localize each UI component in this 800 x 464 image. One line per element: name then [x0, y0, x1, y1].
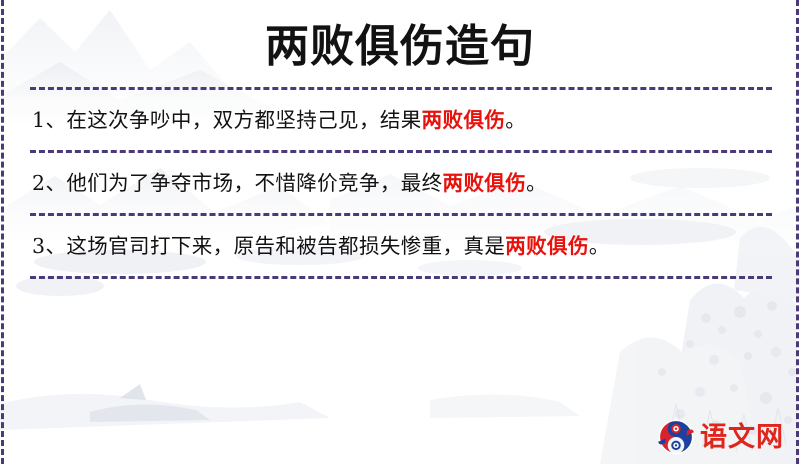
sentence-item-1: 1、在这次争吵中，双方都坚持己见，结果两败俱伤。 [14, 90, 786, 150]
sentence-index-3: 3、 [32, 234, 66, 258]
sentence-after-2: 。 [526, 171, 547, 195]
sentence-after-1: 。 [505, 108, 526, 132]
worksheet-content: 两败俱伤造句 1、在这次争吵中，双方都坚持己见，结果两败俱伤。 2、他们为了争夺… [0, 0, 800, 464]
sentence-index-2: 2、 [32, 171, 66, 195]
keyword-highlight-1: 两败俱伤 [422, 108, 506, 132]
yinyang-fish-logo-icon [657, 418, 695, 456]
sentence-after-3: 。 [589, 234, 610, 258]
sentence-before-2: 他们为了争夺市场，不惜降价竞争，最终 [66, 171, 442, 195]
page-title: 两败俱伤造句 [14, 0, 786, 87]
sentence-before-1: 在这次争吵中，双方都坚持己见，结果 [66, 108, 421, 132]
sentence-index-1: 1、 [32, 108, 66, 132]
sentence-item-3: 3、这场官司打下来，原告和被告都损失惨重，真是两败俱伤。 [14, 216, 786, 276]
footer-spacer [14, 279, 786, 339]
right-dashed-border [796, 0, 799, 464]
site-logo-text: 语文网 [700, 424, 784, 451]
keyword-highlight-3: 两败俱伤 [505, 234, 589, 258]
worksheet-page: 两败俱伤造句 1、在这次争吵中，双方都坚持己见，结果两败俱伤。 2、他们为了争夺… [0, 0, 800, 464]
sentence-before-3: 这场官司打下来，原告和被告都损失惨重，真是 [66, 234, 505, 258]
site-logo-watermark: 语文网 [657, 418, 784, 456]
keyword-highlight-2: 两败俱伤 [443, 171, 527, 195]
sentence-item-2: 2、他们为了争夺市场，不惜降价竞争，最终两败俱伤。 [14, 153, 786, 213]
left-dashed-border [1, 0, 4, 464]
